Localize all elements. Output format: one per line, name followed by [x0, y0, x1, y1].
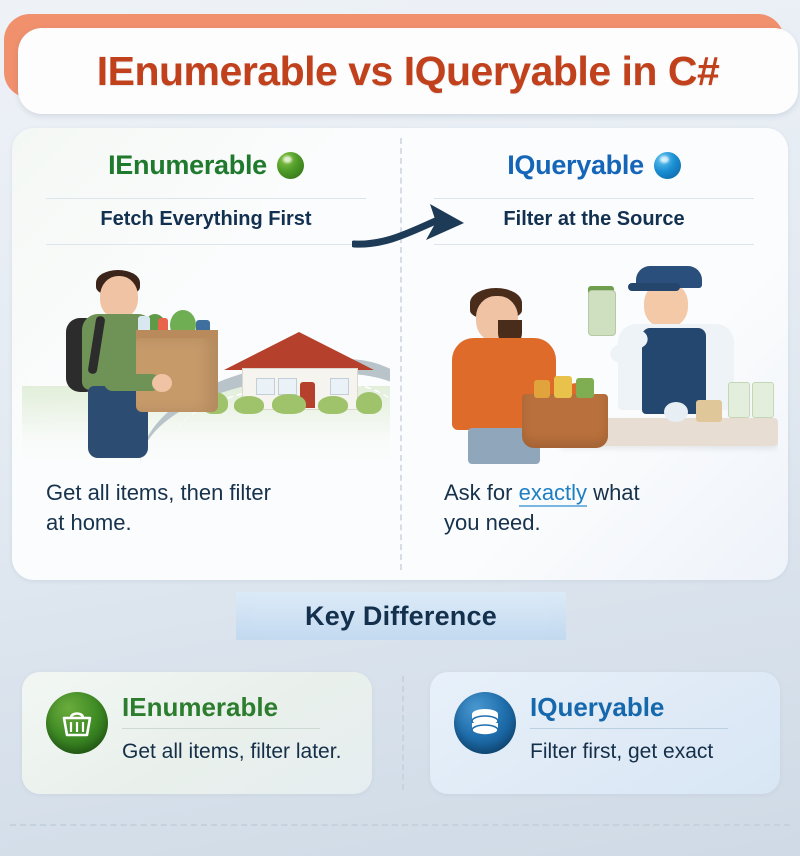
blue-sphere-icon: [654, 152, 681, 179]
key-difference-label: Key Difference: [305, 601, 497, 632]
summary-card-ienumerable: IEnumerable Get all items, filter later.: [22, 672, 372, 794]
house-window: [256, 378, 275, 395]
summary-rule: [122, 728, 320, 729]
page-title: IEnumerable vs IQueryable in C#: [97, 48, 720, 95]
caption-highlight: exactly: [519, 480, 587, 507]
left-rule-bottom: [46, 244, 366, 245]
title-banner: IEnumerable vs IQueryable in C#: [0, 10, 800, 120]
title-card: IEnumerable vs IQueryable in C#: [18, 28, 798, 114]
shelf-product: [664, 402, 688, 422]
summary-title-iqueryable: IQueryable: [530, 692, 664, 723]
left-rule-top: [46, 198, 366, 199]
ienumerable-caption: Get all items, then filter at home.: [46, 478, 366, 537]
ienumerable-panel: IEnumerable Fetch Everything First: [12, 128, 400, 580]
shelf-product: [752, 382, 774, 418]
bush-shape: [272, 394, 306, 414]
caption-line-1: Get all items, then filter: [46, 480, 271, 505]
ienumerable-heading: IEnumerable: [108, 150, 267, 181]
summary-title-ienumerable: IEnumerable: [122, 692, 278, 723]
comparison-panel: IEnumerable Fetch Everything First: [12, 128, 788, 580]
bush-shape: [356, 392, 382, 414]
summary-card-iqueryable: IQueryable Filter first, get exact: [430, 672, 780, 794]
caption-pre: Ask for: [444, 480, 519, 505]
cap-brim: [628, 283, 680, 291]
ienumerable-subtitle: Fetch Everything First: [12, 208, 400, 231]
ienumerable-illustration: [22, 256, 390, 464]
head-shape: [100, 276, 138, 318]
summary-rule: [530, 728, 728, 729]
hand-shape: [152, 374, 172, 392]
panel-divider: [400, 138, 402, 570]
summary-divider: [402, 676, 404, 790]
caption-line-2: at home.: [46, 510, 132, 535]
shopper-figure: [66, 270, 206, 458]
key-difference-banner: Key Difference: [0, 592, 800, 650]
iqueryable-heading-row: IQueryable: [400, 150, 788, 181]
curved-right-arrow-icon: [352, 204, 472, 256]
bush-shape: [318, 396, 348, 414]
house-window: [330, 378, 349, 395]
shelf-product: [696, 400, 722, 422]
shelf-product: [728, 382, 750, 418]
iqueryable-illustration: [410, 256, 778, 464]
shopping-basket-prop: [522, 394, 608, 448]
bush-shape: [234, 396, 264, 414]
caption-post: what: [587, 480, 640, 505]
right-rule-bottom: [434, 244, 754, 245]
shopping-basket-icon: [46, 692, 108, 754]
produce-item: [576, 378, 594, 398]
right-rule-top: [434, 198, 754, 199]
iqueryable-heading: IQueryable: [507, 150, 644, 181]
summary-subtitle-ienumerable: Get all items, filter later.: [122, 740, 341, 764]
iqueryable-caption: Ask for exactly what you need.: [444, 478, 764, 537]
ienumerable-heading-row: IEnumerable: [12, 150, 400, 181]
iqueryable-panel: IQueryable Filter at the Source: [400, 128, 788, 580]
product-jar-icon: [588, 290, 616, 336]
corn-item: [554, 376, 572, 398]
produce-item: [534, 380, 550, 398]
ribbon-body: Key Difference: [236, 592, 566, 640]
summary-cards: IEnumerable Get all items, filter later.…: [0, 672, 800, 802]
bottom-dashed-line: [10, 824, 790, 826]
house-window: [278, 378, 297, 395]
database-cylinder-icon: [454, 692, 516, 754]
summary-subtitle-iqueryable: Filter first, get exact: [530, 740, 713, 764]
house-roof: [224, 332, 374, 370]
green-sphere-icon: [277, 152, 304, 179]
caption-line-2: you need.: [444, 510, 541, 535]
